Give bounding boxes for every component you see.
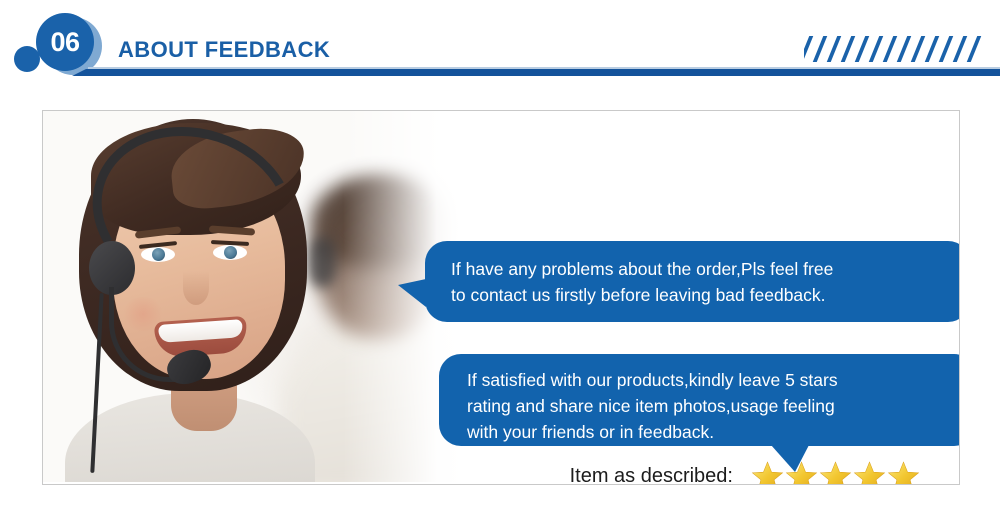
section-number: 06 [50,29,79,56]
hatch-mark [881,36,899,62]
rating-list: Item as described:Communication:Shipping… [531,454,951,485]
speech-bubble-satisfied: If satisfied with our products,kindly le… [439,354,960,446]
content-panel: If have any problems about the order,Pls… [42,110,960,485]
header-rule-thick [72,69,1000,76]
section-header: 06 ABOUT FEEDBACK [0,0,1000,100]
section-number-badge: 06 [36,13,94,71]
hatch-mark [825,36,843,62]
about-feedback-banner: 06 ABOUT FEEDBACK [0,0,1000,513]
star-icon [751,460,784,486]
rating-row: Item as described: [531,454,951,485]
speech-bubble-problems: If have any problems about the order,Pls… [425,241,960,322]
header-rule-thin [88,67,1000,69]
speech-bubble-problems-text: If have any problems about the order,Pls… [451,256,948,308]
hatch-mark [895,36,913,62]
star-rating[interactable] [751,460,920,486]
hatch-mark [923,36,941,62]
diagonal-hatch-decoration [804,36,994,62]
rating-label: Item as described: [531,465,751,486]
decorative-dot [14,46,40,72]
hatch-mark [937,36,955,62]
star-icon [785,460,818,486]
background-person-headset [308,237,336,287]
hatch-mark [839,36,857,62]
page-title: ABOUT FEEDBACK [118,37,330,63]
star-icon [819,460,852,486]
speech-bubble-tail-left [398,279,426,307]
hatch-mark [909,36,927,62]
hatch-mark [867,36,885,62]
hatch-mark [853,36,871,62]
hatch-mark [965,36,983,62]
hatch-mark [811,36,829,62]
hatch-mark [951,36,969,62]
star-icon [853,460,886,486]
speech-bubble-satisfied-text: If satisfied with our products,kindly le… [467,367,956,445]
star-icon [887,460,920,486]
